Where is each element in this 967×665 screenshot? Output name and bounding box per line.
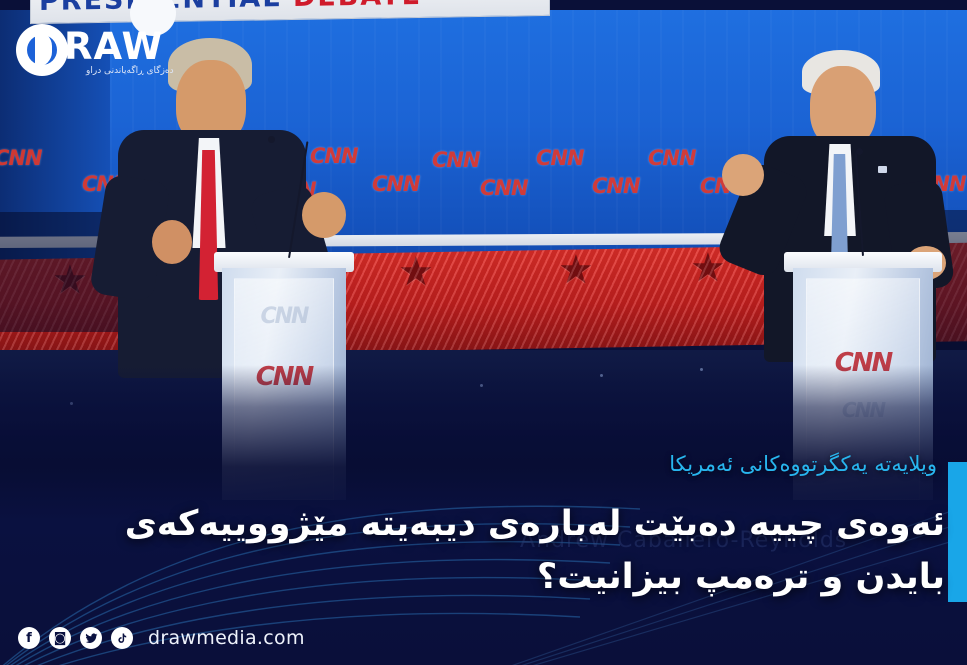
kicker-label: ویلایەتە یەکگرتووەکانی ئەمریکا	[337, 452, 937, 476]
podium-trump-cnn-logo: CNN	[214, 362, 354, 392]
headline-line-2: بایدن و ترەمپ بیزانیت؟	[15, 551, 945, 604]
cnn-wall-logo: CNN	[480, 176, 528, 200]
riser-star: ★	[398, 252, 434, 292]
podium-biden-cnn-logo: CNN	[784, 348, 942, 378]
biden-flag-pin	[878, 166, 887, 173]
banner-title-right: DEBATE	[293, 0, 422, 13]
logo-wordmark: RAW	[64, 28, 163, 65]
cnn-wall-logo: CNN	[536, 146, 584, 170]
website-url[interactable]: drawmedia.com	[148, 627, 305, 649]
podium-trump-cnn-reflection: CNN	[214, 304, 354, 329]
twitter-icon[interactable]	[80, 627, 102, 649]
headline: ئەوەی چییە دەبێت لەبارەی دیبەیتە مێژوویی…	[15, 498, 945, 604]
news-graphic-card: PRESIDENTIAL DEBATE ★ ★ CNN CNN CNN CNN …	[0, 0, 967, 665]
banner-title: PRESIDENTIAL DEBATE	[39, 0, 550, 17]
cnn-wall-logo: CNN	[648, 146, 696, 170]
headline-line-1: ئەوەی چییە دەبێت لەبارەی دیبەیتە مێژوویی…	[125, 504, 945, 544]
cnn-wall-logo: CNN	[0, 146, 42, 170]
trump-left-hand	[152, 220, 192, 264]
cnn-wall-logo: CNN	[432, 148, 480, 172]
trump-right-hand	[302, 192, 346, 238]
biden-left-hand	[722, 154, 764, 196]
accent-bar	[948, 462, 967, 602]
riser-star: ★	[558, 250, 594, 290]
tiktok-icon[interactable]	[111, 627, 133, 649]
microphone-trump-head	[268, 136, 275, 143]
cnn-wall-logo: CNN	[372, 172, 420, 196]
facebook-icon[interactable]: f	[18, 627, 40, 649]
cnn-wall-logo: CNN	[592, 174, 640, 198]
instagram-icon[interactable]: ◙	[49, 627, 71, 649]
draw-media-logo: RAW دەزگای ڕاگەیاندنی دراو	[16, 22, 211, 80]
logo-subtitle: دەزگای ڕاگەیاندنی دراو	[86, 66, 174, 76]
microphone-biden-head	[856, 148, 863, 155]
footer-bar: f ◙ drawmedia.com	[18, 625, 305, 651]
